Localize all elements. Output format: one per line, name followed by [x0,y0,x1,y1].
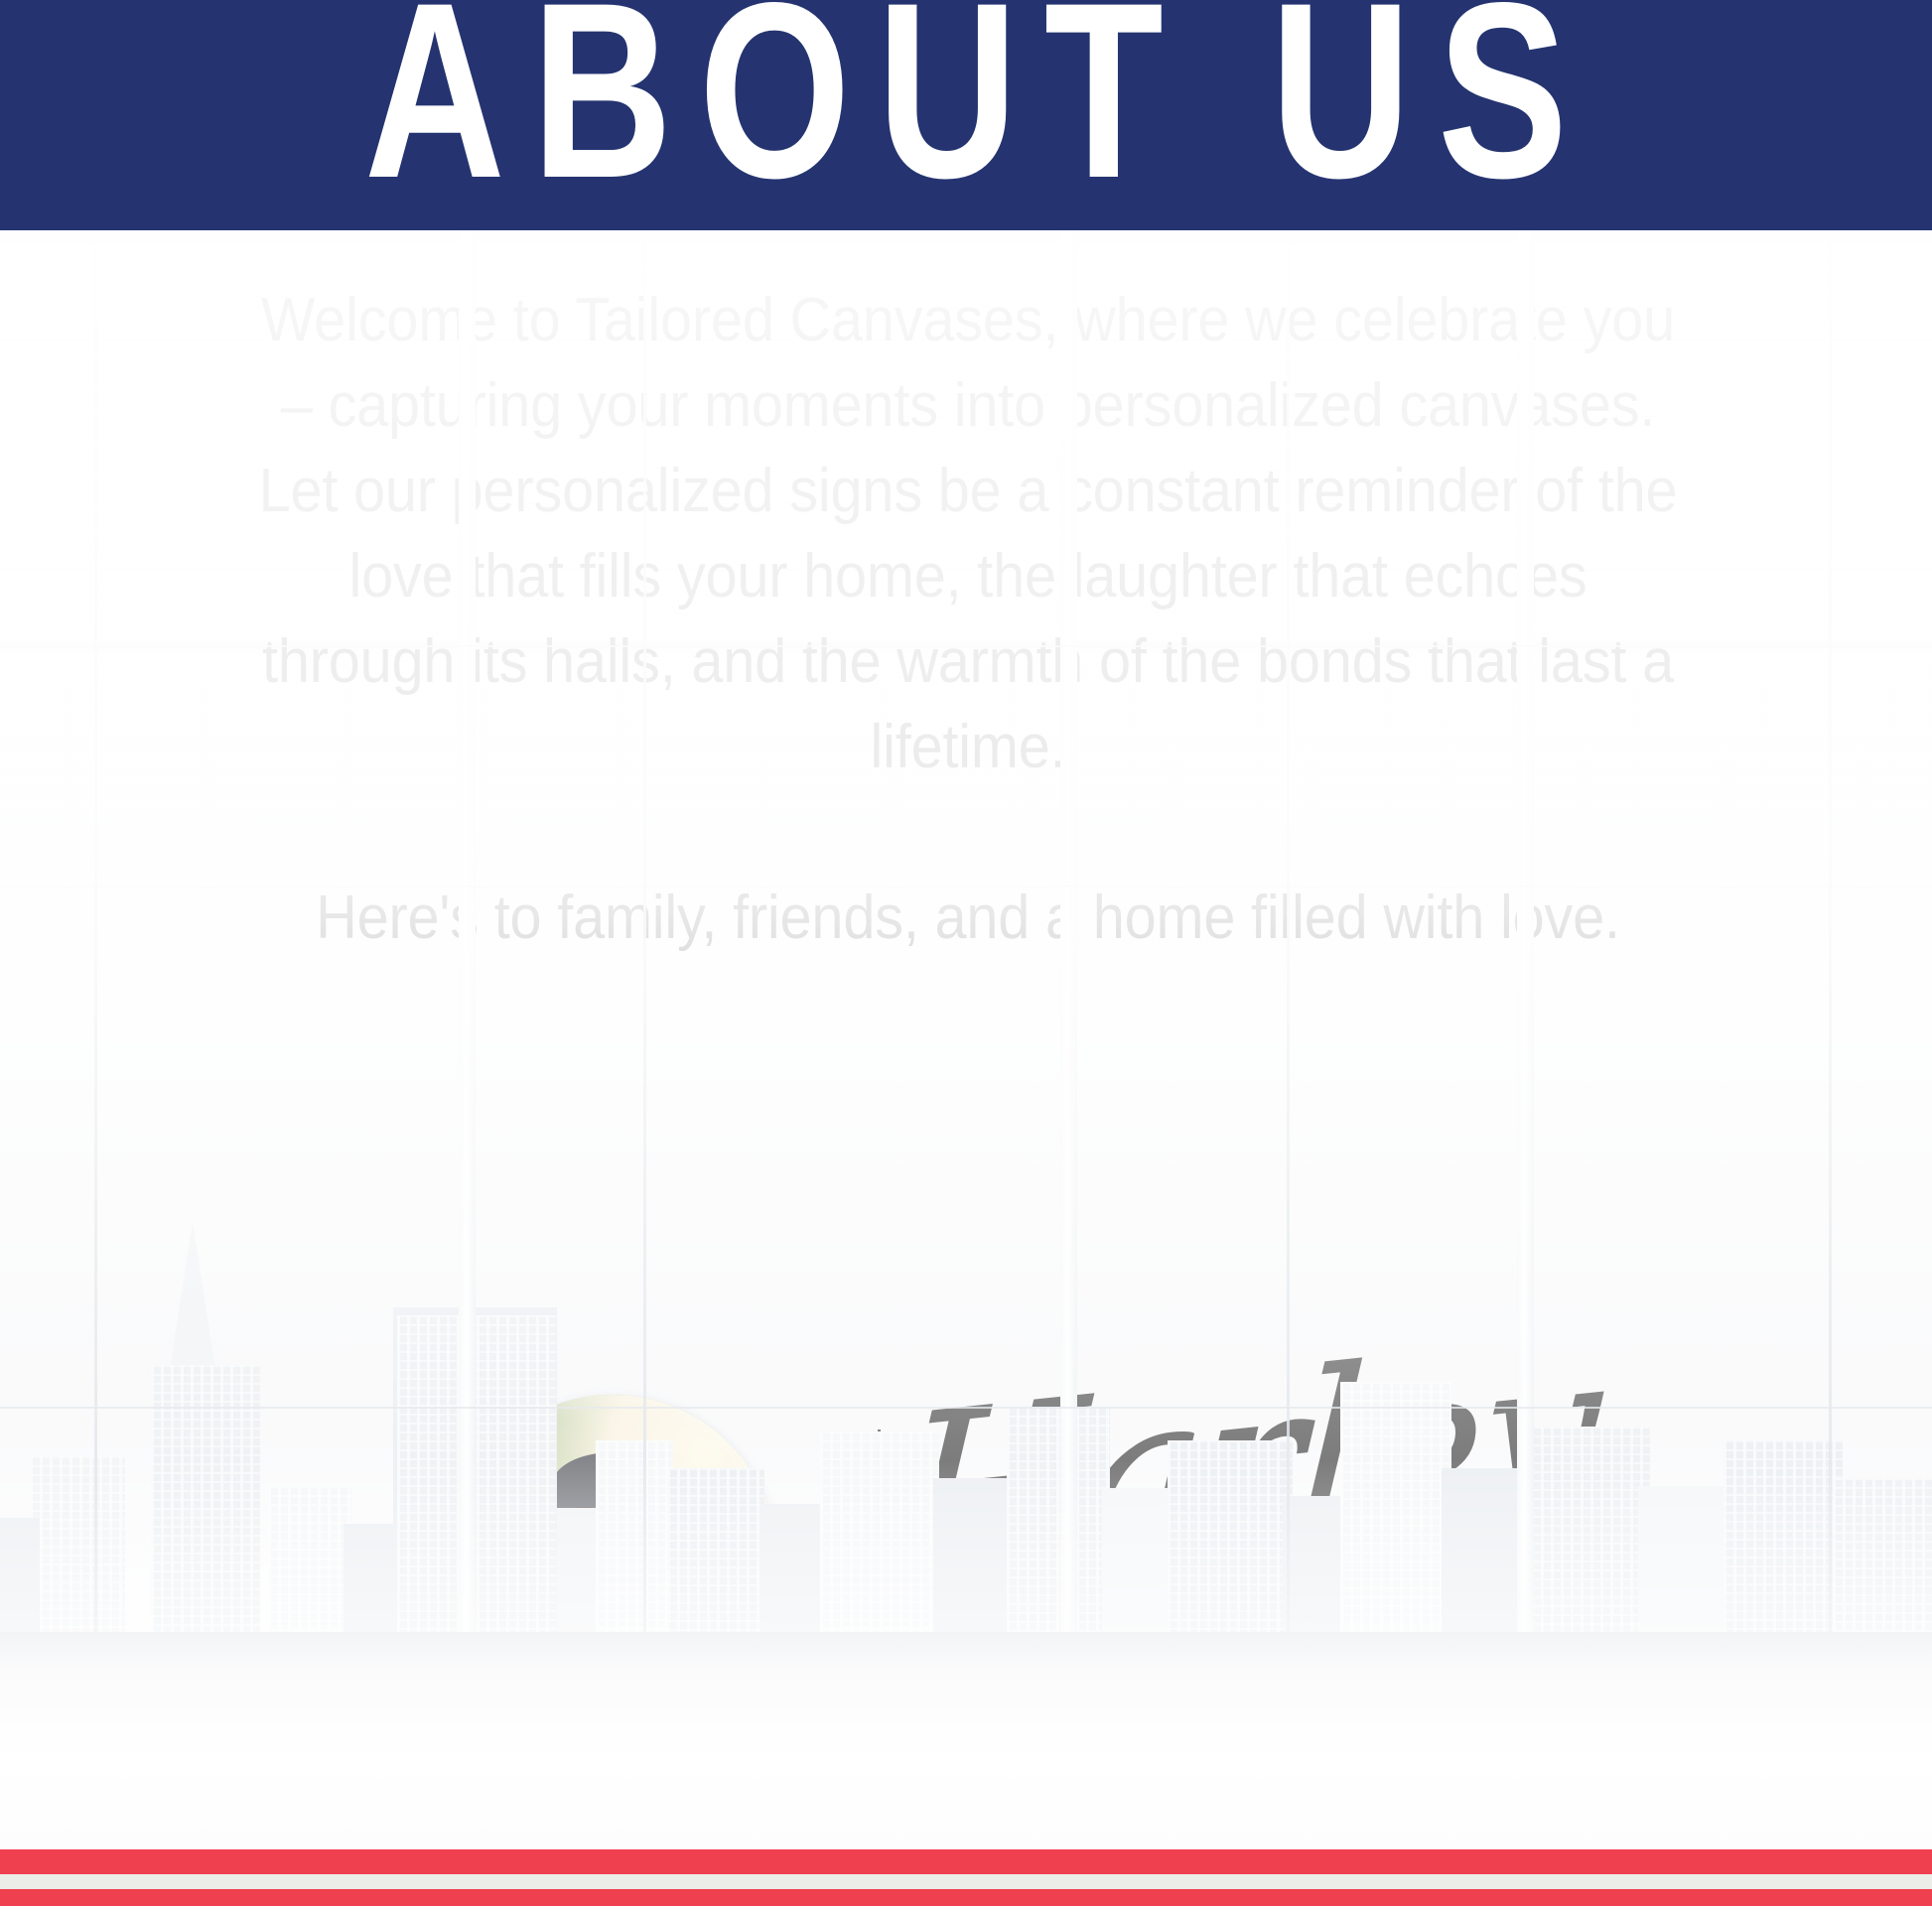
header-banner: ABOUT US [0,0,1932,230]
page-title: ABOUT US [212,0,1720,216]
window-sill [0,1632,1932,1848]
accent-rule-bottom [0,1889,1932,1906]
accent-rule-gap [0,1874,1932,1889]
background-scene [0,230,1932,1848]
background-haze [0,230,1932,1848]
about-us-card: ABOUT US Welcome to Tailored Canvases, w… [0,0,1932,1906]
accent-rule-top [0,1849,1932,1874]
